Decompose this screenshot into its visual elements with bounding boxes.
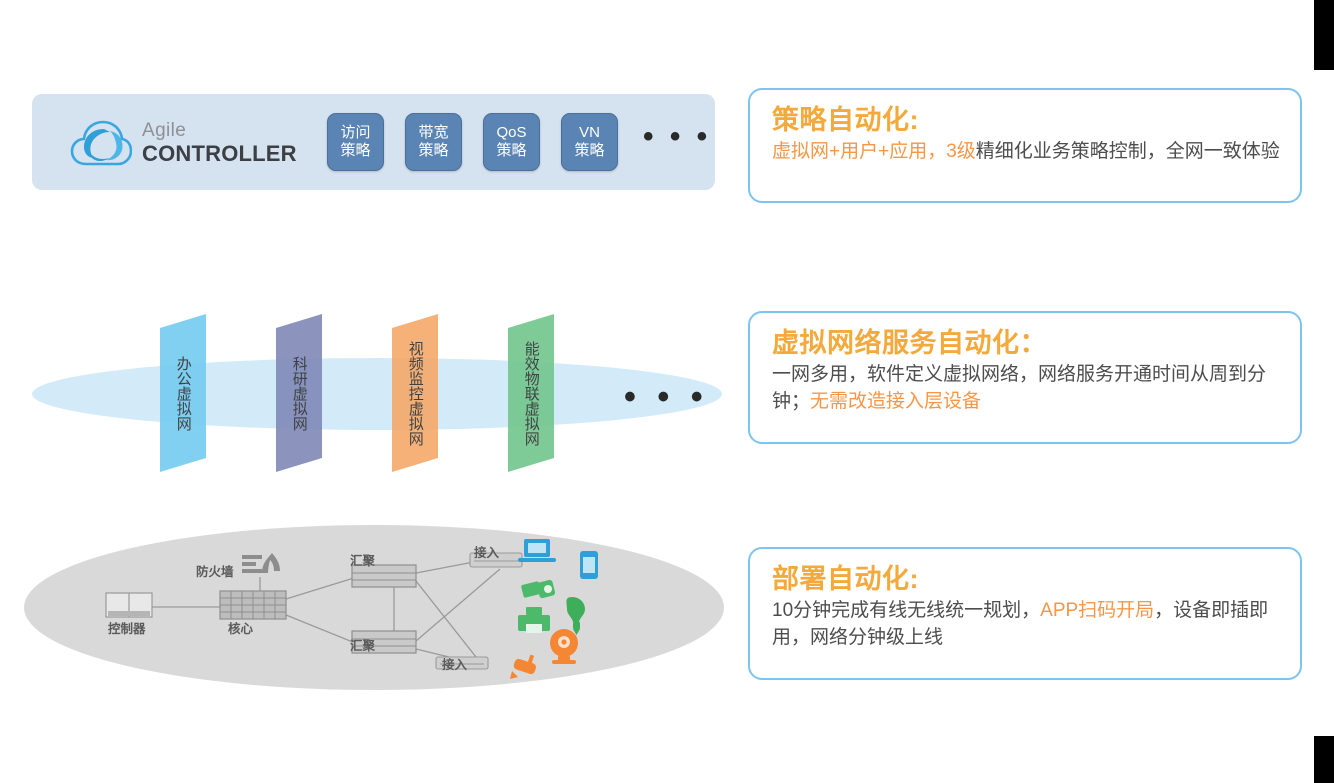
callout-virtual-network-service-automation: 虚拟网络服务自动化： 一网多用，软件定义虚拟网络，网络服务开通时间从周到分钟；无… — [748, 311, 1302, 444]
callout-vn-service-automation-body: 一网多用，软件定义虚拟网络，网络服务开通时间从周到分钟；无需改造接入层设备 — [772, 362, 1280, 414]
callout-vn-service-automation-body-part-1: 无需改造接入层设备 — [810, 391, 981, 412]
endpoint-webcam-icon — [550, 629, 578, 664]
endpoint-laptop-icon — [518, 539, 556, 562]
callout-deployment-automation-title: 部署自动化: — [772, 563, 1280, 595]
callout-policy-automation: 策略自动化: 虚拟网+用户+应用，3级精细化业务策略控制，全网一致体验 — [748, 88, 1302, 203]
policy-badge-vn-line2: 策略 — [574, 142, 604, 160]
policy-badge-qos-line2: 策略 — [496, 142, 526, 160]
cloud-swirl-icon — [70, 117, 132, 169]
policy-badge-access-line1: 访问 — [340, 124, 370, 142]
policy-badge-bandwidth[interactable]: 带宽 策略 — [405, 113, 462, 171]
topology-label-aggregation-upper: 汇聚 — [350, 550, 375, 569]
callout-vn-service-automation-title: 虚拟网络服务自动化： — [772, 327, 1280, 359]
policy-badge-vn[interactable]: VN 策略 — [561, 113, 618, 171]
network-topology-scene: 控制器 防火墙 核心 汇聚 汇聚 接入 接入 — [24, 525, 724, 690]
policy-badge-qos[interactable]: QoS 策略 — [483, 113, 540, 171]
endpoint-cctv-camera-icon — [510, 655, 537, 679]
right-edge-bar-top — [1314, 0, 1334, 70]
endpoint-projector-icon — [521, 579, 556, 598]
topology-node-core — [220, 591, 286, 619]
topology-label-access-upper: 接入 — [474, 542, 499, 561]
topology-label-access-lower: 接入 — [442, 654, 467, 673]
callout-deployment-automation: 部署自动化: 10分钟完成有线无线统一规划，APP扫码开局，设备即插即用，网络分… — [748, 547, 1302, 680]
policy-badge-group: 访问 策略 带宽 策略 QoS 策略 VN 策略 • • • — [327, 112, 711, 172]
agile-controller-bar: Agile CONTROLLER 访问 策略 带宽 策略 QoS 策略 VN 策… — [32, 94, 715, 190]
vn-plane-office-label: 办公虚拟网 — [175, 356, 191, 431]
policy-badge-access[interactable]: 访问 策略 — [327, 113, 384, 171]
callout-deployment-automation-body: 10分钟完成有线无线统一规划，APP扫码开局，设备即插即用，网络分钟级上线 — [772, 598, 1280, 650]
right-edge-bar-bottom — [1314, 736, 1334, 783]
vn-more-ellipsis: • • • — [624, 380, 709, 414]
policy-badge-bandwidth-line2: 策略 — [418, 142, 448, 160]
callout-policy-automation-body-part-0: 虚拟网+用户+应用，3级 — [772, 141, 976, 162]
topology-label-aggregation-lower: 汇聚 — [350, 635, 375, 654]
vn-plane-research-label: 科研虚拟网 — [291, 356, 307, 431]
topology-label-controller: 控制器 — [108, 618, 146, 637]
callout-policy-automation-body: 虚拟网+用户+应用，3级精细化业务策略控制，全网一致体验 — [772, 139, 1280, 165]
virtual-network-ellipse — [32, 358, 722, 430]
vn-plane-energy-iot-label: 能效物联虚拟网 — [523, 341, 539, 446]
endpoint-printer-icon — [518, 607, 550, 633]
logo-word-controller: CONTROLLER — [142, 143, 297, 165]
logo-word-agile: Agile — [142, 121, 297, 140]
callout-deployment-automation-body-part-0: 10分钟完成有线无线统一规划， — [772, 600, 1040, 621]
topology-label-core: 核心 — [228, 618, 253, 637]
endpoint-tablet-icon — [580, 551, 598, 579]
vn-plane-research[interactable]: 科研虚拟网 — [276, 314, 322, 472]
endpoint-lightbulb-icon — [566, 597, 585, 635]
topology-node-firewall — [242, 553, 280, 573]
callout-policy-automation-title: 策略自动化: — [772, 104, 1280, 136]
slide-canvas: Agile CONTROLLER 访问 策略 带宽 策略 QoS 策略 VN 策… — [0, 0, 1334, 783]
agile-controller-logo: Agile CONTROLLER — [70, 114, 310, 172]
callout-deployment-automation-body-part-1: APP扫码开局 — [1040, 600, 1154, 621]
vn-plane-energy-iot[interactable]: 能效物联虚拟网 — [508, 314, 554, 472]
virtual-network-scene: 办公虚拟网 科研虚拟网 视频监控虚拟网 能效物联虚拟网 • • • — [24, 300, 724, 490]
vn-plane-video-monitor[interactable]: 视频监控虚拟网 — [392, 314, 438, 472]
topology-node-controller — [106, 593, 152, 617]
policy-badge-bandwidth-line1: 带宽 — [418, 124, 448, 142]
topology-label-firewall: 防火墙 — [196, 561, 234, 580]
policy-badge-vn-line1: VN — [579, 124, 600, 142]
vn-plane-video-monitor-label: 视频监控虚拟网 — [407, 341, 423, 446]
policy-badge-access-line2: 策略 — [340, 142, 370, 160]
callout-policy-automation-body-part-1: 精细化业务策略控制，全网一致体验 — [976, 141, 1280, 162]
policy-badge-qos-line1: QoS — [496, 124, 526, 142]
policy-more-ellipsis: • • • — [643, 122, 711, 162]
vn-plane-office[interactable]: 办公虚拟网 — [160, 314, 206, 472]
